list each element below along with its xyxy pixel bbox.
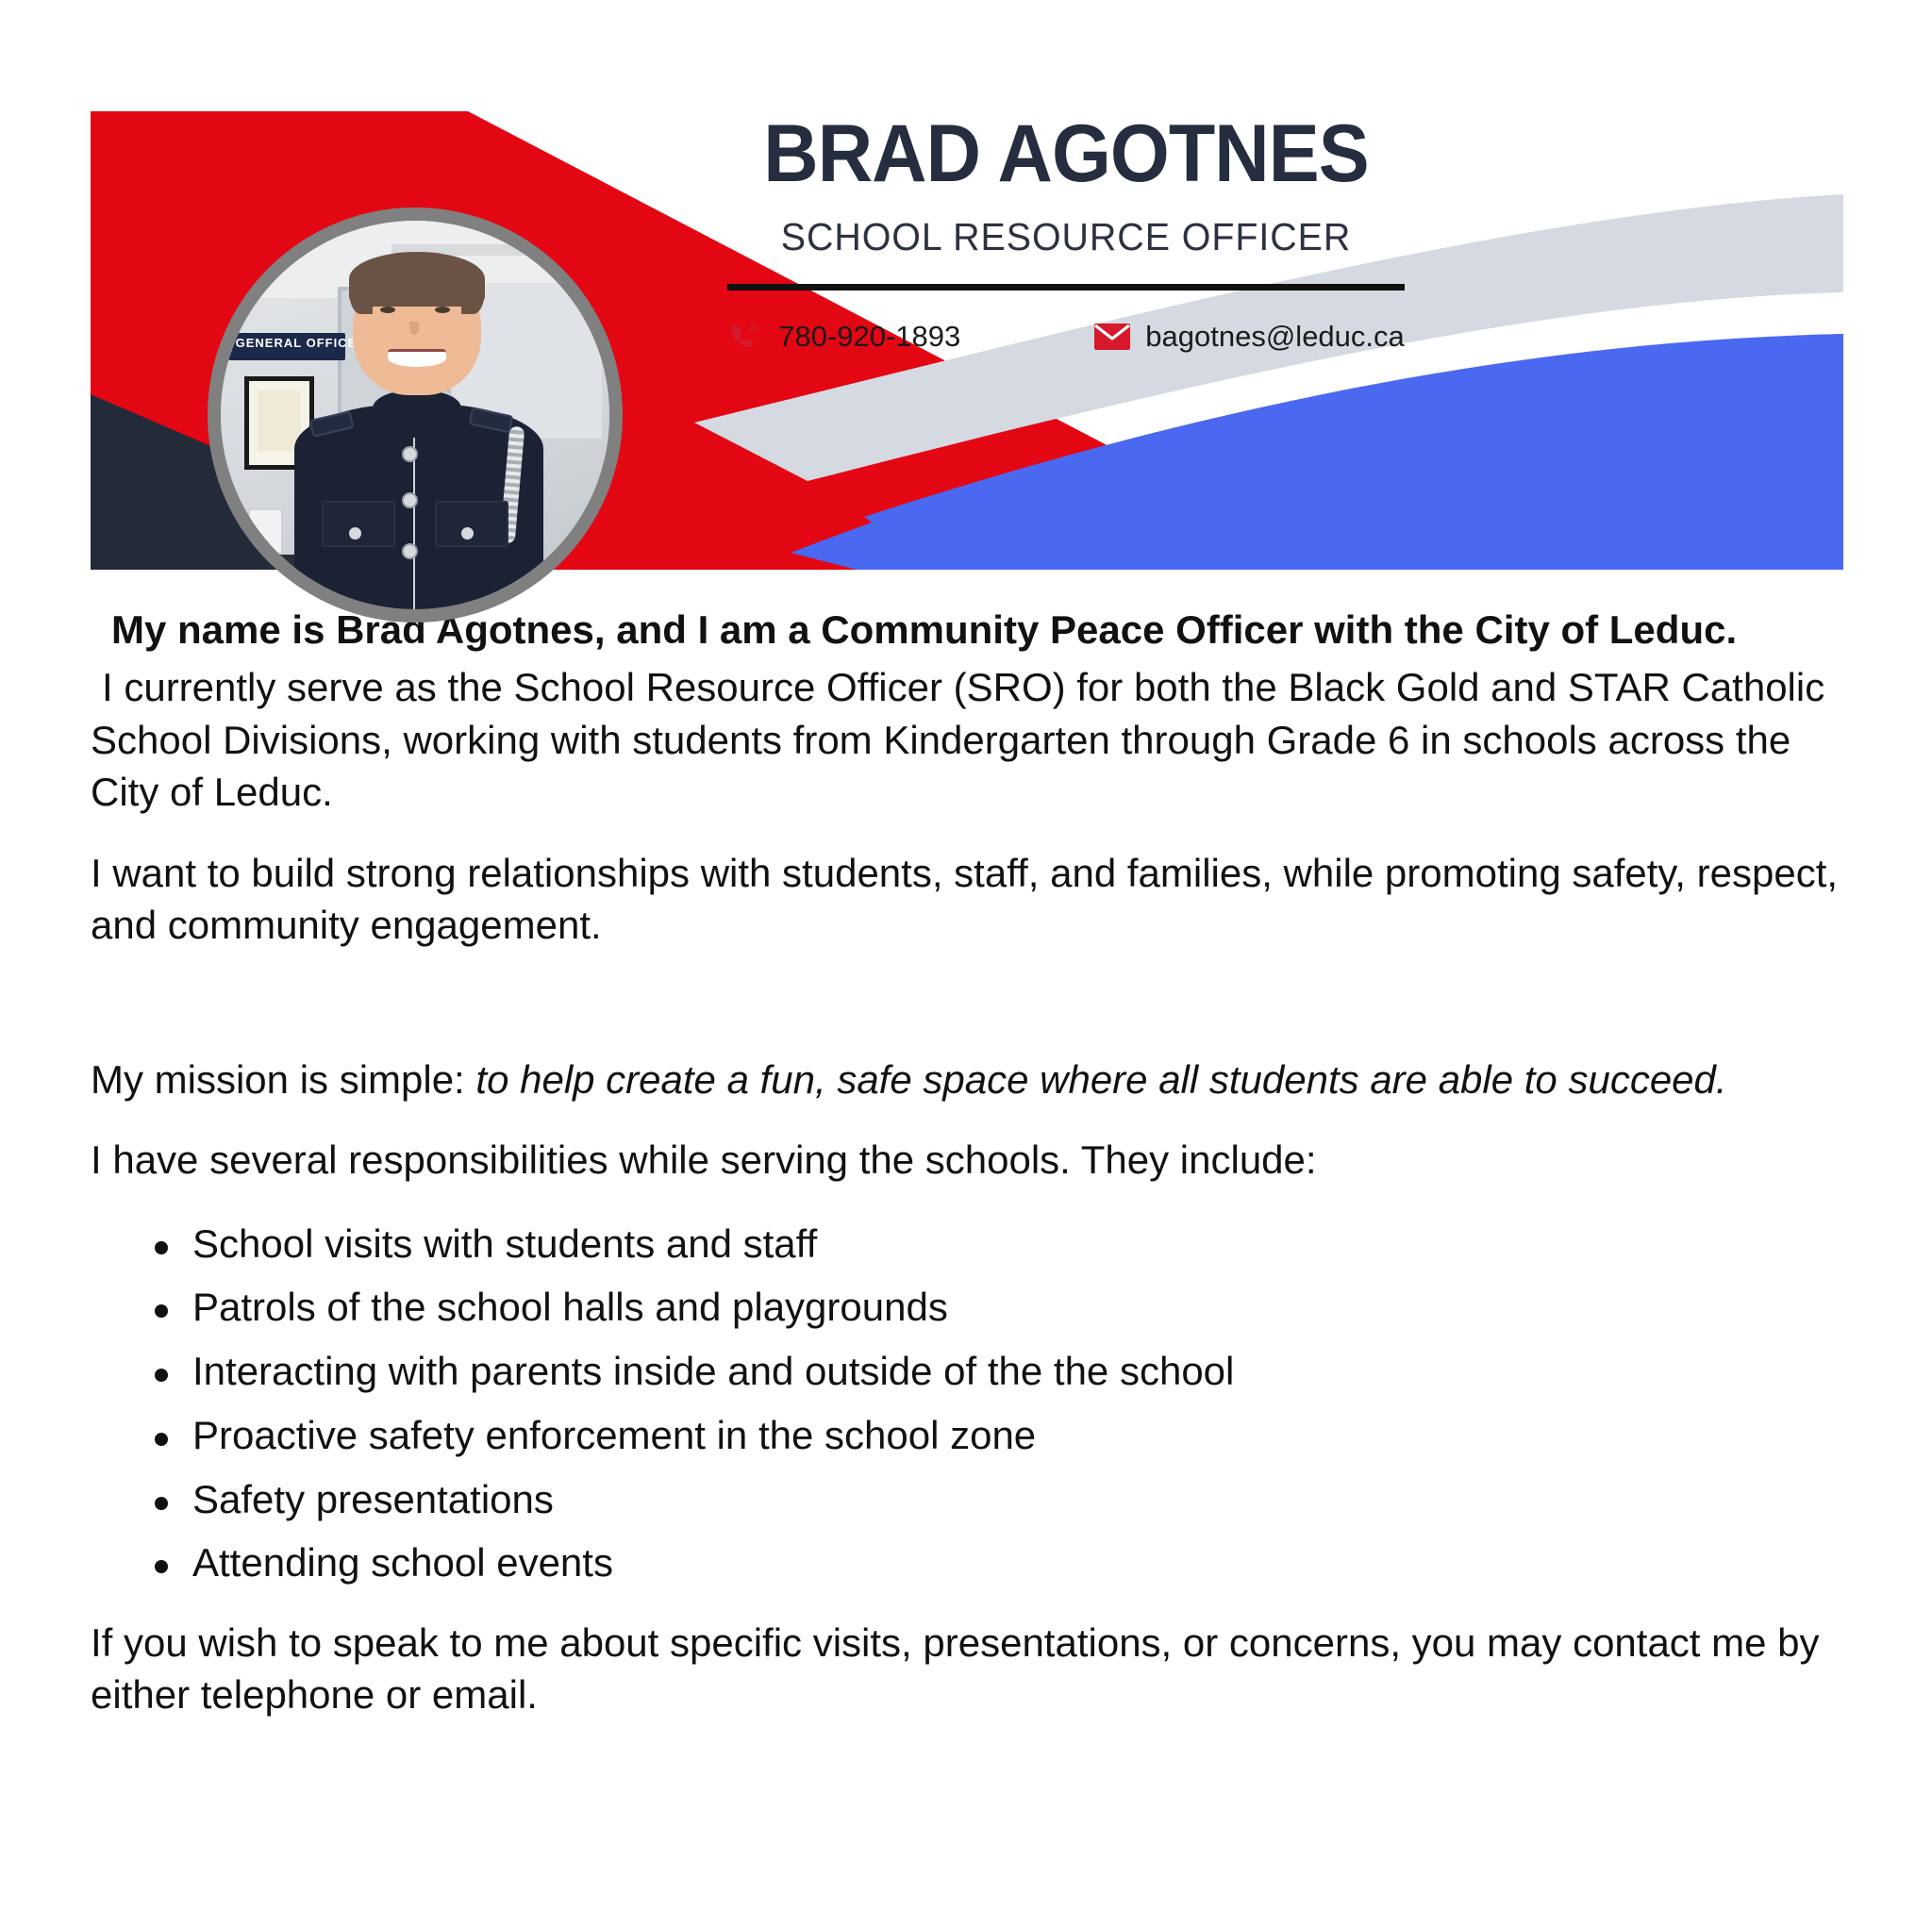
contact-email[interactable]: bagotnes@leduc.ca <box>1094 320 1405 354</box>
list-item: Patrols of the school halls and playgrou… <box>192 1282 1864 1333</box>
header-text-block: BRAD AGOTNES SCHOOL RESOURCE OFFICER 780… <box>651 113 1481 355</box>
list-item: Attending school events <box>192 1537 1864 1588</box>
phone-number: 780-920-1893 <box>778 320 960 354</box>
paragraph-1: I currently serve as the School Resource… <box>91 661 1864 818</box>
general-office-sign-label: GENERAL OFFICE <box>236 336 358 350</box>
avatar-photo: GENERAL OFFICE <box>221 221 609 609</box>
responsibilities-list: School visits with students and staff Pa… <box>91 1219 1864 1589</box>
paragraph-2: I want to build strong relationships wit… <box>91 847 1864 952</box>
list-item: Proactive safety enforcement in the scho… <box>192 1410 1864 1461</box>
contact-phone[interactable]: 780-920-1893 <box>727 319 960 355</box>
mission-paragraph: My mission is simple: to help create a f… <box>91 1054 1864 1105</box>
mission-quote: to help create a fun, safe space where a… <box>475 1057 1726 1102</box>
responsibilities-intro: I have several responsibilities while se… <box>91 1134 1864 1186</box>
phone-icon <box>727 319 763 355</box>
email-address: bagotnes@leduc.ca <box>1145 320 1405 354</box>
article-body: My name is Brad Agotnes, and I am a Comm… <box>91 604 1864 1750</box>
officer-subtitle: SCHOOL RESOURCE OFFICER <box>668 215 1465 259</box>
page-title: BRAD AGOTNES <box>675 113 1456 194</box>
paragraph-spacer <box>91 980 1864 1054</box>
avatar: GENERAL OFFICE <box>208 208 623 623</box>
email-icon <box>1094 323 1130 351</box>
general-office-sign: GENERAL OFFICE <box>228 333 345 360</box>
mission-intro: My mission is simple: <box>91 1057 475 1102</box>
header-divider <box>727 284 1405 291</box>
list-item: Safety presentations <box>192 1474 1864 1525</box>
closing-paragraph: If you wish to speak to me about specifi… <box>91 1617 1864 1721</box>
list-item: School visits with students and staff <box>192 1219 1864 1270</box>
list-item: Interacting with parents inside and outs… <box>192 1346 1864 1397</box>
contact-row: 780-920-1893 bagotnes@leduc.ca <box>651 319 1481 355</box>
